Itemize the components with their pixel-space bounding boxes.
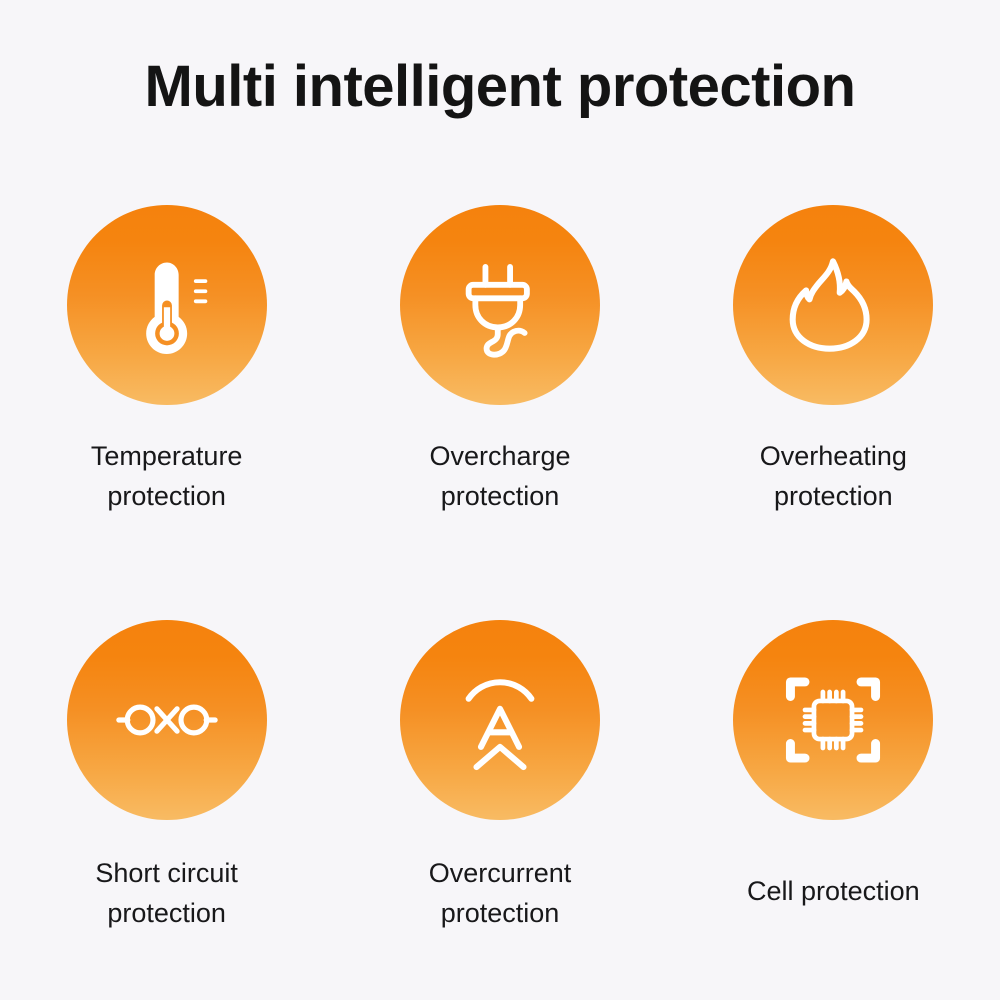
- icon-circle-temperature: [67, 205, 267, 405]
- feature-label-temperature-protection: Temperature protection: [91, 437, 243, 517]
- icon-circle-overcurrent: [400, 620, 600, 820]
- feature-item-overcharge-protection[interactable]: Overcharge protection: [333, 205, 666, 620]
- power-plug-icon: [444, 249, 556, 361]
- chip-scan-icon: [777, 664, 889, 776]
- icon-circle-cell: [733, 620, 933, 820]
- feature-item-cell-protection[interactable]: Cell protection: [667, 620, 1000, 990]
- page-title: Multi intelligent protection: [0, 55, 1000, 119]
- feature-label-overheating-protection: Overheating protection: [760, 437, 907, 517]
- feature-label-cell-protection: Cell protection: [747, 872, 920, 912]
- flame-icon: [777, 249, 889, 361]
- icon-circle-short-circuit: [67, 620, 267, 820]
- feature-item-temperature-protection[interactable]: Temperature protection: [0, 205, 333, 620]
- protection-features-page: Multi intelligent protection: [0, 0, 1000, 1000]
- feature-grid: Temperature protection: [0, 205, 1000, 990]
- thermometer-icon: [111, 249, 223, 361]
- ampere-arrow-icon: [444, 664, 556, 776]
- feature-item-overheating-protection[interactable]: Overheating protection: [667, 205, 1000, 620]
- feature-label-overcharge-protection: Overcharge protection: [429, 437, 570, 517]
- feature-item-short-circuit-protection[interactable]: Short circuit protection: [0, 620, 333, 990]
- feature-label-overcurrent-protection: Overcurrent protection: [429, 854, 572, 934]
- icon-circle-overcharge: [400, 205, 600, 405]
- icon-circle-overheating: [733, 205, 933, 405]
- short-circuit-icon: [111, 664, 223, 776]
- feature-label-short-circuit-protection: Short circuit protection: [95, 854, 238, 934]
- feature-item-overcurrent-protection[interactable]: Overcurrent protection: [333, 620, 666, 990]
